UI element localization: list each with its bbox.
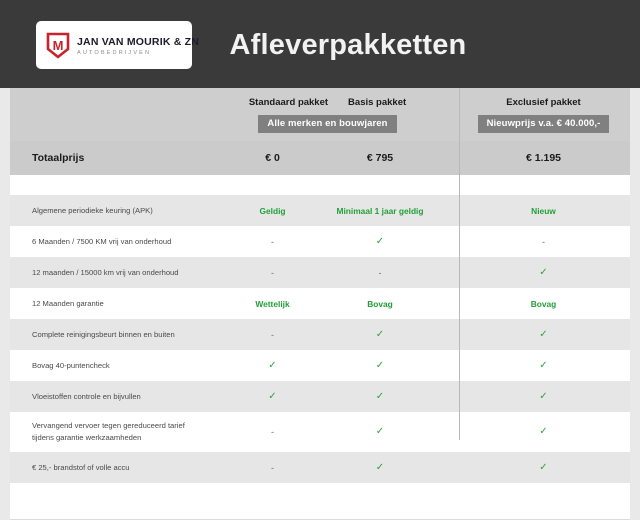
total-price-label: Totaalprijs xyxy=(32,152,84,164)
row-gap xyxy=(435,319,457,350)
basis-value: - xyxy=(379,268,382,278)
page-title: Afleverpakketten xyxy=(0,29,640,62)
standaard-cell: - xyxy=(220,226,325,257)
header-empty-cell xyxy=(10,88,220,141)
afleverpakketten-page: M JAN VAN MOURIK & ZN AUTOBEDRIJVEN Afle… xyxy=(0,0,640,480)
badge-alle-merken: Alle merken en bouwjaren xyxy=(258,115,396,133)
exclusief-cell: Bovag xyxy=(457,288,630,319)
basis-cell: ✓ xyxy=(325,381,435,412)
feature-label: Bovag 40-puntencheck xyxy=(32,360,110,372)
check-icon: ✓ xyxy=(539,268,547,278)
standaard-value: - xyxy=(271,463,274,473)
total-label-cell: Totaalprijs xyxy=(10,141,220,175)
row-gap xyxy=(435,195,457,226)
feature-label-cell: 6 Maanden / 7500 KM vrij van onderhoud xyxy=(10,226,220,257)
standaard-cell: Wettelijk xyxy=(220,288,325,319)
table-row: Vloeistoffen controle en bijvullen✓✓✓ xyxy=(10,381,630,412)
feature-label: 6 Maanden / 7500 KM vrij van onderhoud xyxy=(32,236,171,248)
column-header-basis: Basis pakket xyxy=(348,97,406,108)
basis-cell: Bovag xyxy=(325,288,435,319)
standaard-cell: ✓ xyxy=(220,381,325,412)
row-gap xyxy=(435,381,457,412)
standaard-value: - xyxy=(271,330,274,340)
badge-nieuwprijs: Nieuwprijs v.a. € 40.000,- xyxy=(478,115,610,133)
left-packages-header: Standaard pakket Basis pakket Alle merke… xyxy=(220,88,435,141)
total-price-row: Totaalprijs € 0 € 795 € 1.195 xyxy=(10,141,630,175)
feature-label: € 25,- brandstof of volle accu xyxy=(32,462,130,474)
basis-cell: Minimaal 1 jaar geldig xyxy=(325,195,435,226)
check-icon: ✓ xyxy=(539,330,547,340)
table-row: Complete reinigingsbeurt binnen en buite… xyxy=(10,319,630,350)
standaard-value: Geldig xyxy=(259,206,285,216)
standaard-value: - xyxy=(271,268,274,278)
exclusief-cell: ✓ xyxy=(457,257,630,288)
total-standaard-cell: € 0 xyxy=(220,141,325,175)
total-price-exclusief: € 1.195 xyxy=(526,152,561,164)
standaard-cell: ✓ xyxy=(220,350,325,381)
total-basis-cell: € 795 xyxy=(325,141,435,175)
check-icon: ✓ xyxy=(539,427,547,437)
exclusief-cell: - xyxy=(457,226,630,257)
row-gap xyxy=(435,452,457,483)
column-header-exclusief: Exclusief pakket xyxy=(506,97,580,108)
exclusief-value: Bovag xyxy=(531,299,557,309)
exclusief-value: - xyxy=(542,237,545,247)
page-header-bar: M JAN VAN MOURIK & ZN AUTOBEDRIJVEN Afle… xyxy=(0,0,640,88)
basis-cell: - xyxy=(325,257,435,288)
feature-label: 12 maanden / 15000 km vrij van onderhoud xyxy=(32,267,179,279)
feature-label-line2: tijdens garantie werkzaamheden xyxy=(32,432,185,444)
row-gap xyxy=(435,257,457,288)
row-gap xyxy=(435,288,457,319)
table-row: Algemene periodieke keuring (APK)GeldigM… xyxy=(10,195,630,226)
check-icon: ✓ xyxy=(539,392,547,402)
total-exclusief-cell: € 1.195 xyxy=(457,141,630,175)
row-gap xyxy=(435,350,457,381)
exclusief-cell: ✓ xyxy=(457,412,630,452)
basis-cell: ✓ xyxy=(325,226,435,257)
check-icon: ✓ xyxy=(376,330,384,340)
table-row: 12 Maanden garantieWettelijkBovagBovag xyxy=(10,288,630,319)
exclusief-cell: ✓ xyxy=(457,381,630,412)
column-divider xyxy=(459,88,460,440)
feature-label-cell: Vervangend vervoer tegen gereduceerd tar… xyxy=(10,412,220,452)
standaard-cell: - xyxy=(220,319,325,350)
basis-cell: ✓ xyxy=(325,319,435,350)
check-icon: ✓ xyxy=(376,463,384,473)
right-package-header: Exclusief pakket Nieuwprijs v.a. € 40.00… xyxy=(457,88,630,141)
column-header-standaard: Standaard pakket xyxy=(249,97,328,108)
basis-cell: ✓ xyxy=(325,412,435,452)
feature-label: Algemene periodieke keuring (APK) xyxy=(32,205,153,217)
check-icon: ✓ xyxy=(376,361,384,371)
exclusief-value: Nieuw xyxy=(531,206,556,216)
check-icon: ✓ xyxy=(539,361,547,371)
total-gap xyxy=(435,141,457,175)
standaard-cell: - xyxy=(220,452,325,483)
standaard-value: - xyxy=(271,427,274,437)
feature-label-cell: Complete reinigingsbeurt binnen en buite… xyxy=(10,319,220,350)
total-price-basis: € 795 xyxy=(367,152,393,164)
table-tail-row xyxy=(10,483,630,519)
table-row: 6 Maanden / 7500 KM vrij van onderhoud-✓… xyxy=(10,226,630,257)
basis-cell: ✓ xyxy=(325,350,435,381)
row-gap xyxy=(435,412,457,452)
check-icon: ✓ xyxy=(268,392,276,402)
header-gap xyxy=(435,88,457,141)
exclusief-cell: ✓ xyxy=(457,350,630,381)
standaard-cell: - xyxy=(220,257,325,288)
table-row: € 25,- brandstof of volle accu-✓✓ xyxy=(10,452,630,483)
check-icon: ✓ xyxy=(268,361,276,371)
row-gap xyxy=(435,226,457,257)
basis-cell: ✓ xyxy=(325,452,435,483)
table-header-row: Standaard pakket Basis pakket Alle merke… xyxy=(10,88,630,141)
exclusief-cell: ✓ xyxy=(457,319,630,350)
check-icon: ✓ xyxy=(539,463,547,473)
feature-label-cell: 12 Maanden garantie xyxy=(10,288,220,319)
feature-label-cell: Vloeistoffen controle en bijvullen xyxy=(10,381,220,412)
basis-value: Minimaal 1 jaar geldig xyxy=(336,206,423,216)
total-price-standaard: € 0 xyxy=(265,152,280,164)
table-row: 12 maanden / 15000 km vrij van onderhoud… xyxy=(10,257,630,288)
table-row: Vervangend vervoer tegen gereduceerd tar… xyxy=(10,412,630,452)
table-spacer xyxy=(10,175,630,195)
packages-table: Standaard pakket Basis pakket Alle merke… xyxy=(0,88,640,519)
standaard-cell: Geldig xyxy=(220,195,325,226)
feature-label-cell: Bovag 40-puntencheck xyxy=(10,350,220,381)
standaard-cell: - xyxy=(220,412,325,452)
exclusief-cell: Nieuw xyxy=(457,195,630,226)
feature-rows: Algemene periodieke keuring (APK)GeldigM… xyxy=(10,195,630,483)
feature-label-cell: Algemene periodieke keuring (APK) xyxy=(10,195,220,226)
feature-label: 12 Maanden garantie xyxy=(32,298,104,310)
exclusief-cell: ✓ xyxy=(457,452,630,483)
check-icon: ✓ xyxy=(376,427,384,437)
basis-value: Bovag xyxy=(367,299,393,309)
feature-label: Complete reinigingsbeurt binnen en buite… xyxy=(32,329,175,341)
standaard-value: - xyxy=(271,237,274,247)
feature-label-cell: € 25,- brandstof of volle accu xyxy=(10,452,220,483)
standaard-value: Wettelijk xyxy=(255,299,289,309)
feature-label: Vloeistoffen controle en bijvullen xyxy=(32,391,141,403)
check-icon: ✓ xyxy=(376,237,384,247)
feature-label-cell: 12 maanden / 15000 km vrij van onderhoud xyxy=(10,257,220,288)
table-row: Bovag 40-puntencheck✓✓✓ xyxy=(10,350,630,381)
check-icon: ✓ xyxy=(376,392,384,402)
feature-label: Vervangend vervoer tegen gereduceerd tar… xyxy=(32,420,185,444)
